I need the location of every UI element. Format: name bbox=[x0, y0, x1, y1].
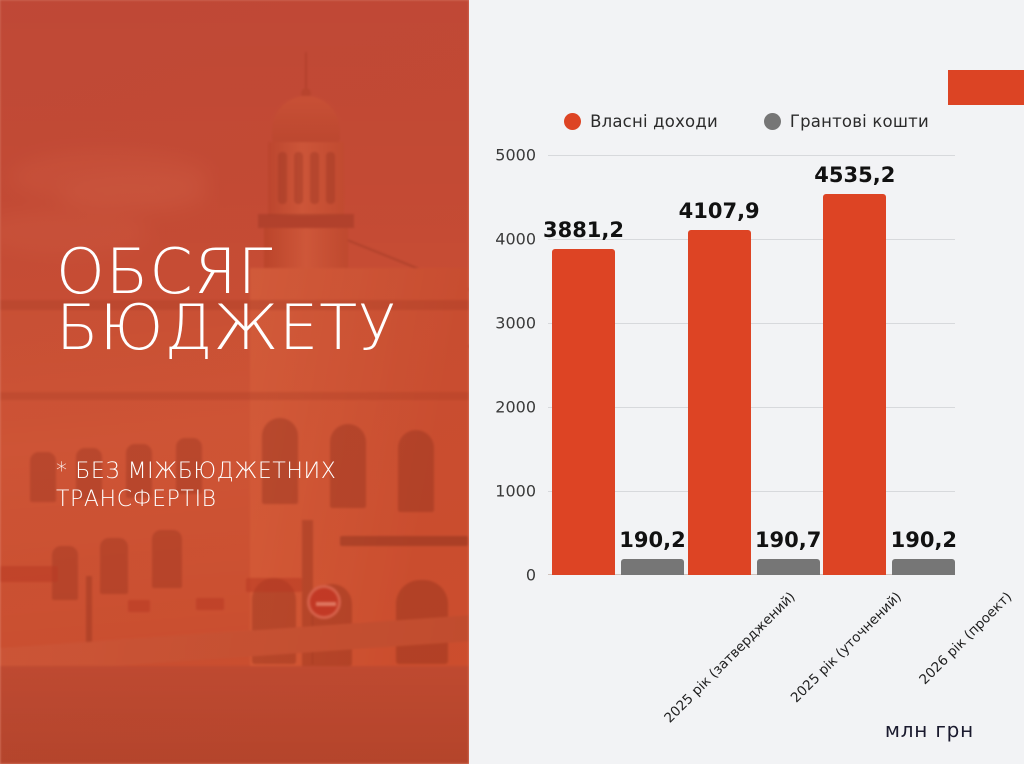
bar-value-label: 190,2 bbox=[891, 528, 957, 552]
hero-photo-panel bbox=[0, 0, 469, 764]
gridline bbox=[548, 155, 955, 156]
bar-own-revenue[interactable]: 4535,2 bbox=[823, 194, 886, 575]
legend-label: Грантові кошти bbox=[790, 112, 929, 131]
legend-swatch-icon bbox=[764, 113, 781, 130]
accent-rectangle bbox=[948, 70, 1024, 105]
y-axis-tick-label: 2000 bbox=[495, 398, 536, 417]
chart-plot-area: 0100020003000400050003881,2190,22025 рік… bbox=[548, 155, 955, 575]
bar-grant-funds[interactable]: 190,7 bbox=[757, 559, 820, 575]
bar-value-label: 190,2 bbox=[619, 528, 685, 552]
legend-swatch-icon bbox=[564, 113, 581, 130]
y-axis-tick-label: 5000 bbox=[495, 146, 536, 165]
bar-value-label: 3881,2 bbox=[543, 218, 624, 242]
y-axis-tick-label: 1000 bbox=[495, 482, 536, 501]
page-subtitle: * БЕЗ МІЖБЮДЖЕТНИХ ТРАНСФЕРТІВ bbox=[56, 458, 446, 514]
y-axis-tick-label: 0 bbox=[526, 566, 536, 585]
bar-value-label: 190,7 bbox=[755, 528, 821, 552]
legend-item-own-revenue[interactable]: Власні доходи bbox=[564, 112, 718, 131]
bar-grant-funds[interactable]: 190,2 bbox=[621, 559, 684, 575]
unit-label: млн грн bbox=[885, 718, 974, 742]
legend-item-grant-funds[interactable]: Грантові кошти bbox=[764, 112, 929, 131]
legend-label: Власні доходи bbox=[590, 112, 718, 131]
bar-value-label: 4107,9 bbox=[679, 199, 760, 223]
bar-own-revenue[interactable]: 4107,9 bbox=[688, 230, 751, 575]
bar-value-label: 4535,2 bbox=[814, 163, 895, 187]
page-title: ОБСЯГ БЮДЖЕТУ bbox=[56, 244, 456, 356]
slide-root: ОБСЯГ БЮДЖЕТУ * БЕЗ МІЖБЮДЖЕТНИХ ТРАНСФЕ… bbox=[0, 0, 1024, 764]
title-line-2: БЮДЖЕТУ bbox=[56, 300, 456, 356]
bar-grant-funds[interactable]: 190,2 bbox=[892, 559, 955, 575]
photo-gradient-overlay bbox=[0, 0, 469, 764]
y-axis-tick-label: 3000 bbox=[495, 314, 536, 333]
y-axis-tick-label: 4000 bbox=[495, 230, 536, 249]
bar-own-revenue[interactable]: 3881,2 bbox=[552, 249, 615, 575]
chart-legend: Власні доходи Грантові кошти bbox=[469, 112, 1024, 131]
